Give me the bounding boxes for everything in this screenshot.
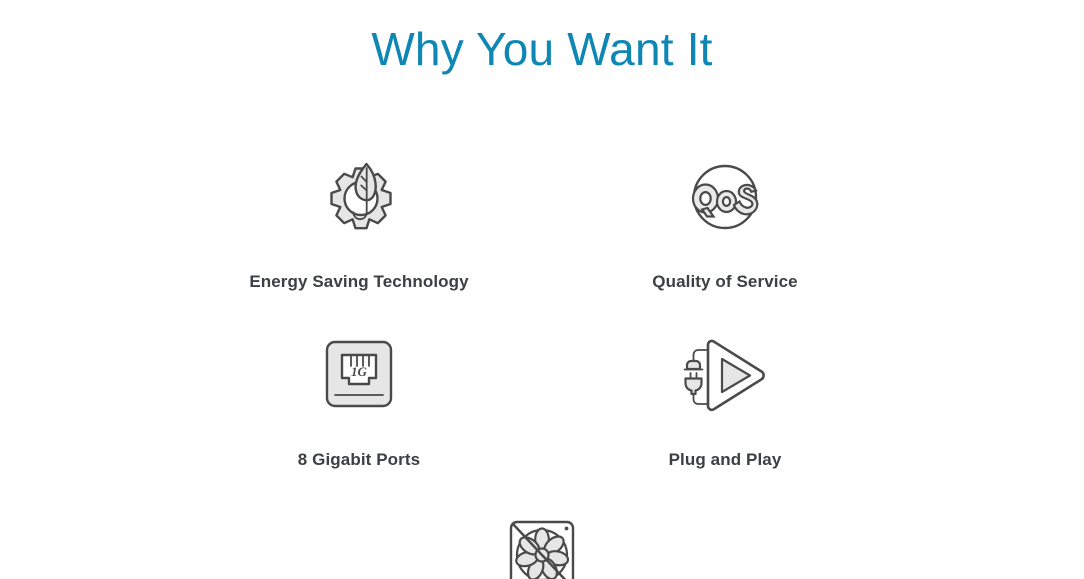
gear-leaf-icon — [311, 150, 407, 246]
feature-item-plug-and-play: Plug and Play — [542, 328, 908, 470]
fan-crossed-out-icon — [494, 507, 590, 579]
feature-label-plug-and-play: Plug and Play — [669, 450, 782, 470]
feature-item-fanless-design: Fanless Design — [359, 507, 725, 579]
rj45-port-icon: 1G — [311, 328, 407, 424]
play-plug-icon — [677, 328, 773, 424]
feature-label-quality-of-service: Quality of Service — [652, 272, 797, 292]
feature-label-gigabit-ports: 8 Gigabit Ports — [298, 450, 420, 470]
feature-item-quality-of-service: Quality of Service — [542, 150, 908, 292]
feature-item-gigabit-ports: 1G 8 Gigabit Ports — [176, 328, 542, 470]
feature-label-energy-saving: Energy Saving Technology — [249, 272, 468, 292]
rj45-speed-text: 1G — [351, 364, 368, 379]
why-you-want-it-section: Why You Want It Energy Saving Technol — [0, 0, 1084, 579]
qos-circle-icon — [677, 150, 773, 246]
feature-item-energy-saving: Energy Saving Technology — [176, 150, 542, 292]
page-title: Why You Want It — [0, 22, 1084, 77]
feature-grid: Energy Saving Technology Quality of — [0, 150, 1084, 579]
